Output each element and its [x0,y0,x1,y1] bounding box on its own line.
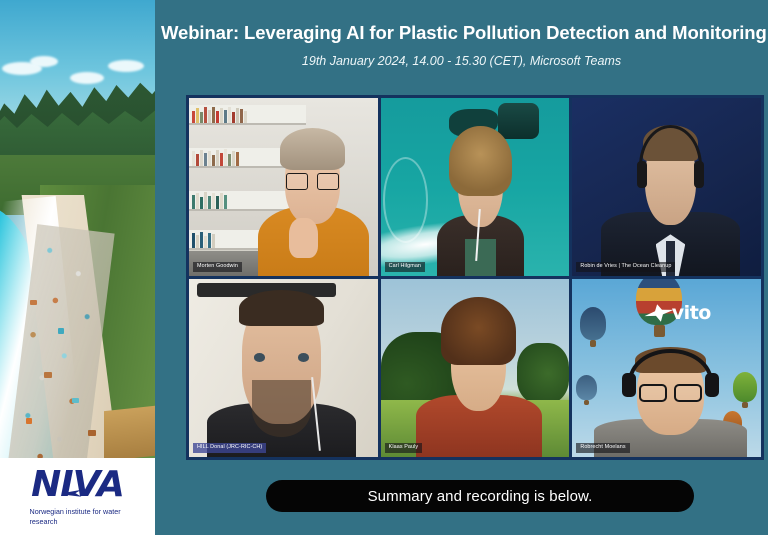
summary-text: Summary and recording is below. [368,488,593,505]
participant-name-label: Carl Hilgman [385,262,425,272]
video-tile-robin-de-vries[interactable]: Robin de Vries | The Ocean Cleanup [572,98,761,276]
cloud [30,56,58,67]
cloud [70,72,104,84]
shirt [465,239,496,276]
tile-background [381,279,570,457]
participant-name-label: HILL Donal (JRC-RIC-CH) [193,443,266,453]
page-subtitle: 19th January 2024, 14.00 - 15.30 (CET), … [155,54,768,68]
summary-callout: Summary and recording is below. [266,480,694,512]
headset-earcup [622,373,636,397]
building [104,405,155,458]
video-tile-morten-goodwin[interactable]: Morten Goodwin [189,98,378,276]
tile-background [572,98,761,276]
hair [280,128,345,171]
vito-wordmark: vito [672,302,711,324]
glasses-icon [286,173,339,190]
participant-figure [618,116,724,276]
webinar-promo-slide: NIVA Norwegian institute for water resea… [0,0,768,535]
hot-air-balloon [580,307,606,339]
left-panel: NIVA Norwegian institute for water resea… [0,0,155,535]
participant-name-label: Robrecht Moelans [576,443,629,453]
beard [252,380,312,437]
tile-background [189,279,378,457]
niva-tagline: Norwegian institute for water research [30,507,126,526]
tile-background [189,98,378,276]
headset-earcup [705,373,719,397]
participant-name-label: Morten Goodwin [193,262,242,272]
debris-item [26,418,32,424]
participant-name-label: Robin de Vries | The Ocean Cleanup [576,262,675,272]
debris-item [58,328,64,334]
eye [298,353,309,361]
participant-figure [430,293,528,457]
participant-figure [618,347,724,457]
eye [254,353,265,361]
video-tile-hill-donal[interactable]: HILL Donal (JRC-RIC-CH) [189,279,378,457]
debris-item [72,398,79,403]
niva-logo: NIVA Norwegian institute for water resea… [0,458,155,535]
hair [449,126,511,196]
hot-air-balloon [576,375,597,400]
vito-logo: vito [648,293,754,332]
participant-figure [219,290,344,457]
hand [289,218,318,258]
cloud [108,60,144,72]
hair [239,290,324,327]
hot-air-balloon [733,372,758,402]
debris-item [30,300,37,305]
coastline-plastic-photo [0,0,155,458]
tile-background: vito [572,279,761,457]
video-tile-robrecht-moelans[interactable]: vito Robrecht Moelans [572,279,761,457]
page-title: Webinar: Leveraging AI for Plastic Pollu… [161,22,762,44]
debris-item [88,430,96,436]
tile-background [381,98,570,276]
hair [441,297,516,366]
participant-figure [253,123,374,276]
video-tile-klaas-pauly[interactable]: Klaas Pauly [381,279,570,457]
vito-star-icon [642,301,675,325]
participant-name-label: Klaas Pauly [385,443,423,453]
video-tile-carl-hilgman[interactable]: Carl Hilgman [381,98,570,276]
glasses-icon [639,384,702,402]
participant-figure [437,123,524,276]
headset-earcup [694,161,705,188]
header: Webinar: Leveraging AI for Plastic Pollu… [155,0,768,68]
video-call-grid: Morten Goodwin Carl Hilgman [186,95,764,460]
niva-wordmark: NIVA [31,467,124,503]
headset-earcup [637,161,648,188]
debris-item [44,372,52,378]
